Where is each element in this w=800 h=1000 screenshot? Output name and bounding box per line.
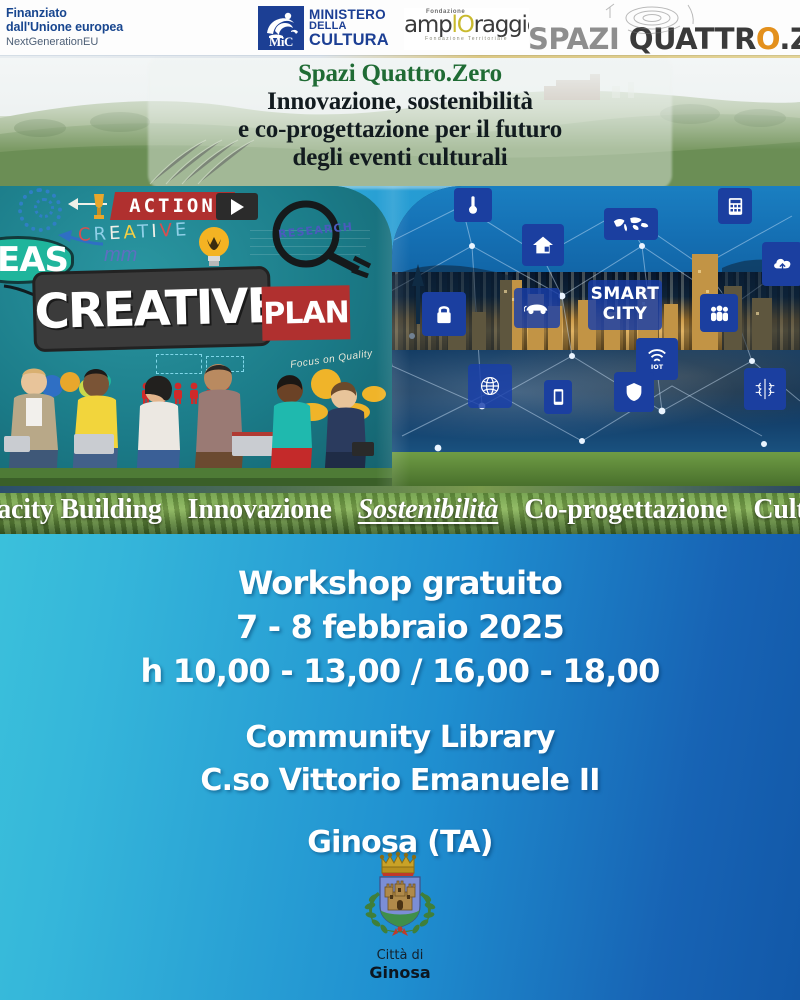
- title-line-1: Innovazione, sostenibilità: [0, 88, 800, 116]
- workshop-label: Workshop gratuito: [0, 562, 800, 606]
- keyword-cultura: Cultura: [753, 494, 800, 526]
- spazi-quattro-zero-logo: SPAZI QUATTRO.Z: [528, 4, 800, 54]
- keyword-innovazione: Innovazione: [188, 494, 332, 526]
- spazi-word-part3: O: [756, 22, 780, 56]
- funding-logo-bar: Finanziato dall'Unione europea NextGener…: [0, 0, 800, 56]
- thermometer-tile: [454, 188, 492, 222]
- smart-city-photo: SMART CITY IOT: [392, 186, 800, 486]
- shield-icon: [625, 382, 643, 402]
- creative-plan-photo: ACTION CREATIVE mm RESEARCH EAS CREATIVE: [0, 186, 392, 486]
- person: [4, 369, 58, 483]
- cloud-upload-tile: [762, 242, 800, 286]
- photo-pair: ACTION CREATIVE mm RESEARCH EAS CREATIVE: [0, 186, 800, 486]
- creative-letter: R: [93, 223, 110, 245]
- shield-with-castle: [380, 877, 420, 927]
- creative-letter: E: [174, 219, 189, 241]
- ai-chip-tile: [744, 368, 786, 410]
- mic-emblem-mark: MiC: [258, 6, 304, 50]
- title-line-2: e co-progettazione per il futuro: [0, 116, 800, 144]
- person: [194, 364, 274, 482]
- shield-tile: [614, 372, 654, 412]
- keyword-band: Capacity Building Innovazione Sostenibil…: [0, 486, 800, 534]
- person: [270, 375, 312, 482]
- contour-scribble-icon: [588, 2, 718, 38]
- calculator-icon: [728, 197, 743, 216]
- eu-funding-line3: NextGenerationEU: [6, 36, 196, 48]
- person: [136, 376, 180, 483]
- foundation-name-accent: lO: [452, 12, 474, 38]
- schedule-group: Workshop gratuito 7 - 8 febbraio 2025 h …: [0, 562, 800, 693]
- event-details-text: Workshop gratuito 7 - 8 febbraio 2025 h …: [0, 562, 800, 860]
- creative-letter: C: [78, 224, 95, 246]
- calculator-tile: [718, 188, 752, 224]
- mic-abbrev-label: MiC: [258, 34, 304, 50]
- lock-tile: [422, 292, 466, 336]
- workshop-dates: 7 - 8 febbraio 2025: [0, 606, 800, 650]
- eu-funding-line1: Finanziato: [6, 6, 196, 20]
- venue-name: Community Library: [0, 717, 800, 760]
- car-tile: [514, 288, 560, 328]
- workshop-hours: h 10,00 - 13,00 / 16,00 - 18,00: [0, 650, 800, 694]
- venue-group: Community Library C.so Vittorio Emanuele…: [0, 717, 800, 802]
- creative-plan-headline: CREATIVE: [39, 275, 273, 343]
- keyword-co-progettazione: Co-progettazione: [524, 494, 727, 526]
- crest-label-line2: Ginosa: [0, 964, 800, 982]
- globe-network-icon: [479, 375, 501, 397]
- people-group-icon: [709, 305, 730, 322]
- home-icon: [532, 235, 554, 255]
- ai-chip-icon: [754, 378, 776, 400]
- lock-icon: [434, 303, 454, 325]
- spazi-word-part4: .Z: [779, 22, 800, 56]
- keyword-capacity-building: Capacity Building: [0, 494, 162, 526]
- iot-label: IOT: [651, 363, 664, 371]
- poster: Finanziato dall'Unione europea NextGener…: [0, 0, 800, 1000]
- car-icon: [524, 301, 550, 315]
- iot-wifi-icon: IOT: [646, 347, 668, 371]
- magnifier-icon: [258, 200, 374, 278]
- foundation-amploraggio-logo: Fondazione amplOraggio Fondazione Territ…: [404, 8, 529, 50]
- foundation-wordmark: amplOraggio: [404, 15, 529, 37]
- lightbulb-icon: [196, 226, 232, 268]
- globe-network-tile: [468, 364, 512, 408]
- smart-city-label: SMART CITY: [591, 285, 660, 324]
- person: [324, 382, 374, 482]
- foundation-name-part1: amp: [404, 12, 452, 38]
- keyword-sostenibilita: Sostenibilità: [358, 494, 499, 526]
- world-map-tile: [604, 208, 658, 240]
- smartphone-icon: [553, 388, 564, 406]
- world-map-icon: [611, 215, 651, 233]
- crest-label-line1: Città di: [0, 948, 800, 964]
- eu-funding-line2: dall'Unione europea: [6, 20, 196, 34]
- smart-city-label-tile: SMART CITY: [588, 280, 662, 330]
- trophy-icon: [92, 192, 106, 222]
- ribbon: [392, 926, 408, 936]
- title-line-3: degli eventi culturali: [0, 144, 800, 172]
- play-button-icon: [216, 193, 258, 220]
- ginosa-coat-of-arms-icon: [352, 848, 448, 946]
- smartphone-tile: [544, 380, 572, 414]
- keyword-list: Capacity Building Innovazione Sostenibil…: [0, 487, 800, 533]
- crown-icon: [380, 852, 416, 876]
- smart-city-line1: SMART: [591, 284, 660, 304]
- ministry-word-3: CULTURA: [309, 32, 389, 49]
- person: [72, 369, 118, 482]
- seated-people-group: [0, 364, 392, 486]
- eu-funding-block: Finanziato dall'Unione europea NextGener…: [6, 6, 196, 48]
- plan-word-box: PLAN: [262, 285, 351, 341]
- gear-small-icon: [34, 198, 54, 218]
- squiggle-mark: mm: [104, 244, 137, 267]
- thermometer-icon: [465, 194, 481, 216]
- poster-title: Spazi Quattro.Zero Innovazione, sostenib…: [0, 60, 800, 172]
- people-group-tile: [700, 294, 738, 332]
- creative-letter: V: [159, 220, 175, 242]
- home-tile: [522, 224, 564, 266]
- ministry-wordmark: MINISTERO DELLA CULTURA: [309, 8, 389, 49]
- ministry-of-culture-logo: MiC MINISTERO DELLA CULTURA: [258, 3, 398, 53]
- photo-seam: [376, 186, 410, 486]
- venue-address: C.so Vittorio Emanuele II: [0, 760, 800, 803]
- ministry-word-1: MINISTERO: [309, 8, 389, 22]
- city-crest-block: Città di Ginosa: [0, 848, 800, 982]
- title-project-name: Spazi Quattro.Zero: [0, 60, 800, 88]
- smart-city-line2: CITY: [603, 304, 648, 324]
- cloud-upload-icon: [772, 255, 793, 273]
- foundation-name-part2: raggio: [474, 12, 529, 38]
- people-with-laptops-graphic: [0, 364, 392, 486]
